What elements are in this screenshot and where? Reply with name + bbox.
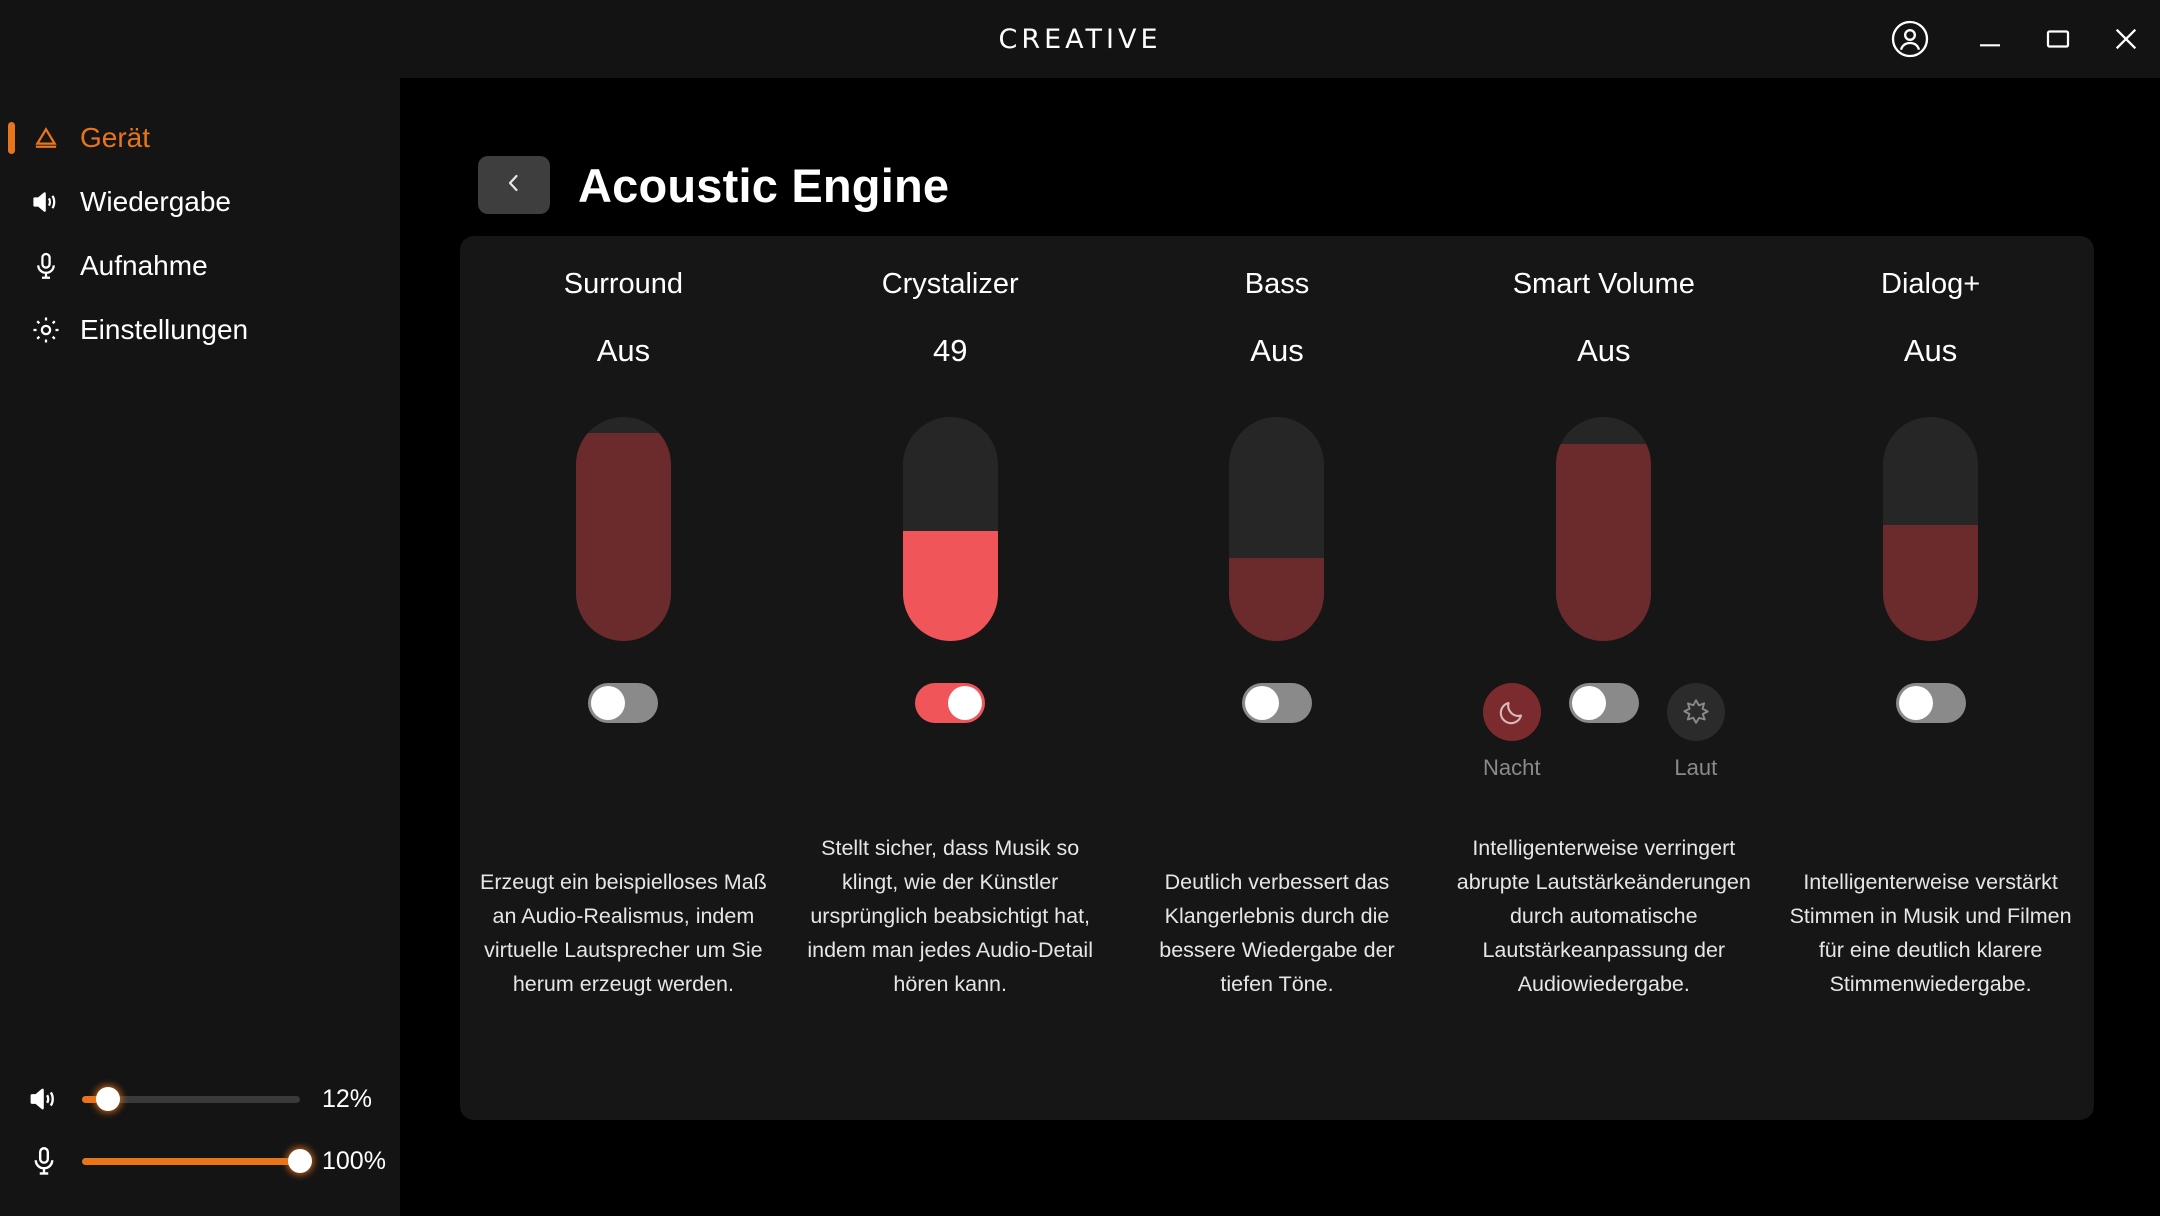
page-title: Acoustic Engine bbox=[578, 158, 949, 213]
volume-controls: 12% 100% bbox=[0, 1068, 400, 1192]
effect-title: Crystalizer bbox=[882, 268, 1019, 301]
effect-description: Deutlich verbessert das Klangerlebnis du… bbox=[1132, 866, 1422, 1002]
back-button[interactable] bbox=[478, 156, 550, 214]
slider-knob[interactable] bbox=[288, 1149, 312, 1173]
burst-icon bbox=[1667, 683, 1725, 741]
effect-toggle[interactable] bbox=[588, 683, 658, 723]
speaker-icon bbox=[30, 186, 74, 218]
effect-toggle-row: NachtLaut bbox=[1483, 683, 1725, 775]
effect-toggle[interactable] bbox=[1242, 683, 1312, 723]
effect-title: Bass bbox=[1245, 268, 1309, 301]
acoustic-engine-panel: SurroundAusErzeugt ein beispielloses Maß… bbox=[460, 236, 2094, 1120]
effect-level-slider[interactable] bbox=[903, 417, 998, 641]
app-window: CREATIVE bbox=[0, 0, 2160, 1216]
sidebar-nav: Gerät Wiedergabe bbox=[0, 106, 400, 362]
page-header: Acoustic Engine bbox=[478, 156, 949, 214]
effect-column: Smart VolumeAusNachtLautIntelligenterwei… bbox=[1440, 236, 1767, 1120]
effect-value: 49 bbox=[933, 333, 967, 369]
creative-logo: CREATIVE bbox=[998, 24, 1161, 55]
effect-description: Stellt sicher, dass Musik so klingt, wie… bbox=[805, 832, 1095, 1002]
device-triangle-icon bbox=[30, 122, 74, 154]
sidebar-item-label: Aufnahme bbox=[80, 250, 208, 282]
close-icon[interactable] bbox=[2092, 0, 2160, 78]
effect-toggle-row bbox=[1242, 683, 1312, 775]
effect-value: Aus bbox=[1577, 333, 1630, 369]
toggle-knob bbox=[1899, 686, 1933, 720]
toggle-knob bbox=[1572, 686, 1606, 720]
window-controls bbox=[1864, 0, 2160, 78]
effect-columns: SurroundAusErzeugt ein beispielloses Maß… bbox=[460, 236, 2094, 1120]
effect-value: Aus bbox=[1250, 333, 1303, 369]
sidebar-item-label: Einstellungen bbox=[80, 314, 248, 346]
toggle-knob bbox=[591, 686, 625, 720]
night-mode-button[interactable]: Nacht bbox=[1483, 683, 1541, 781]
sidebar: Gerät Wiedergabe bbox=[0, 78, 400, 1216]
effect-value: Aus bbox=[597, 333, 650, 369]
effect-toggle-row bbox=[915, 683, 985, 775]
slider-fill bbox=[82, 1158, 300, 1165]
speaker-volume-slider[interactable] bbox=[82, 1088, 300, 1110]
toggle-knob bbox=[948, 686, 982, 720]
account-circle-icon[interactable] bbox=[1864, 0, 1956, 78]
effect-title: Dialog+ bbox=[1881, 268, 1980, 301]
effect-column: SurroundAusErzeugt ein beispielloses Maß… bbox=[460, 236, 787, 1120]
speaker-icon bbox=[22, 1082, 66, 1116]
sidebar-item-label: Wiedergabe bbox=[80, 186, 231, 218]
effect-title: Smart Volume bbox=[1513, 268, 1695, 301]
chevron-left-icon bbox=[502, 171, 526, 200]
effect-level-slider[interactable] bbox=[1883, 417, 1978, 641]
slider-fill bbox=[576, 433, 671, 641]
loud-mode-button[interactable]: Laut bbox=[1667, 683, 1725, 781]
sidebar-item-label: Gerät bbox=[80, 122, 150, 154]
microphone-volume-slider[interactable] bbox=[82, 1150, 300, 1172]
sidebar-item-wiedergabe[interactable]: Wiedergabe bbox=[0, 170, 400, 234]
microphone-volume-row: 100% bbox=[0, 1130, 400, 1192]
effect-toggle[interactable] bbox=[1569, 683, 1639, 723]
effect-column: Crystalizer49Stellt sicher, dass Musik s… bbox=[787, 236, 1114, 1120]
effect-level-slider[interactable] bbox=[1229, 417, 1324, 641]
effect-title: Surround bbox=[564, 268, 683, 301]
effect-description: Intelligenterweise verstärkt Stimmen in … bbox=[1786, 866, 2076, 1002]
effect-toggle[interactable] bbox=[1896, 683, 1966, 723]
microphone-volume-value: 100% bbox=[322, 1147, 386, 1176]
slider-fill bbox=[1229, 558, 1324, 641]
toggle-knob bbox=[1245, 686, 1279, 720]
main-content: Acoustic Engine SurroundAusErzeugt ein b… bbox=[400, 78, 2160, 1216]
maximize-icon[interactable] bbox=[2024, 0, 2092, 78]
night-mode-label: Nacht bbox=[1483, 755, 1540, 781]
gear-icon bbox=[30, 314, 74, 346]
effect-level-slider[interactable] bbox=[1556, 417, 1651, 641]
effect-description: Erzeugt ein beispielloses Maß an Audio-R… bbox=[478, 866, 768, 1002]
effect-column: BassAusDeutlich verbessert das Klangerle… bbox=[1114, 236, 1441, 1120]
brand-logo-area: CREATIVE bbox=[0, 0, 2160, 78]
speaker-volume-value: 12% bbox=[322, 1085, 372, 1114]
slider-knob[interactable] bbox=[96, 1087, 120, 1111]
microphone-icon bbox=[22, 1144, 66, 1178]
microphone-icon bbox=[30, 250, 74, 282]
slider-fill bbox=[903, 531, 998, 641]
effect-value: Aus bbox=[1904, 333, 1957, 369]
effect-toggle-row bbox=[588, 683, 658, 775]
loud-mode-label: Laut bbox=[1674, 755, 1717, 781]
effect-description: Intelligenterweise verringert abrupte La… bbox=[1454, 832, 1754, 1002]
effect-level-slider[interactable] bbox=[576, 417, 671, 641]
sidebar-item-geraet[interactable]: Gerät bbox=[0, 106, 400, 170]
effect-toggle-row bbox=[1896, 683, 1966, 775]
effect-toggle[interactable] bbox=[915, 683, 985, 723]
creative-logo-text: CREATIVE bbox=[998, 24, 1161, 55]
moon-icon bbox=[1483, 683, 1541, 741]
slider-fill bbox=[1556, 444, 1651, 641]
minimize-icon[interactable] bbox=[1956, 0, 2024, 78]
sidebar-item-aufnahme[interactable]: Aufnahme bbox=[0, 234, 400, 298]
effect-column: Dialog+AusIntelligenterweise verstärkt S… bbox=[1767, 236, 2094, 1120]
title-bar: CREATIVE bbox=[0, 0, 2160, 78]
slider-fill bbox=[1883, 525, 1978, 641]
sidebar-item-einstellungen[interactable]: Einstellungen bbox=[0, 298, 400, 362]
speaker-volume-row: 12% bbox=[0, 1068, 400, 1130]
